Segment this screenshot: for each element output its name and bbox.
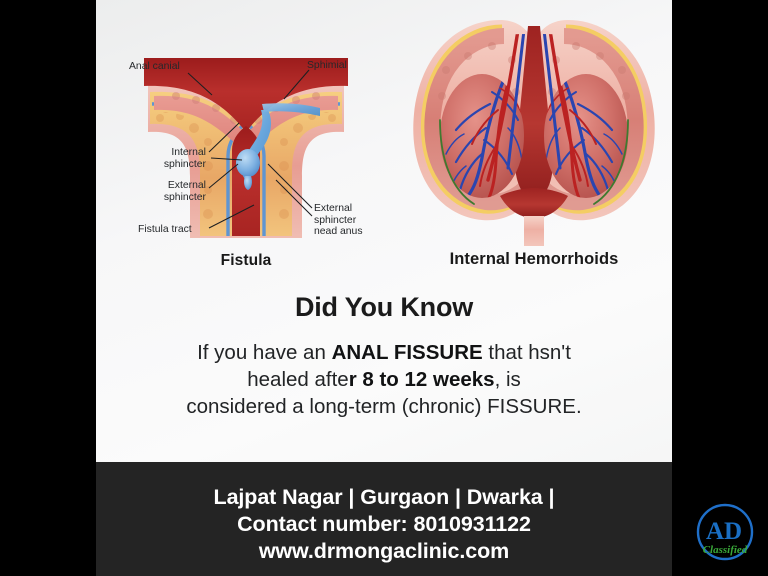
body-line1-emphasis: ANAL FISSURE: [332, 341, 483, 364]
figure-hemorrhoids: Internal Hemorrhoids: [396, 0, 672, 285]
body-copy-line-3: considered a long-term (chronic) FISSURE…: [96, 393, 672, 420]
body-copy-line-2: healed after 8 to 12 weeks, is: [96, 366, 672, 393]
poster-card: Anal canial Sphimial Internal sphincter …: [96, 0, 672, 576]
page-title: Did You Know: [96, 292, 672, 323]
hemorrhoids-illustration: [396, 0, 672, 248]
figure-caption-hemorrhoids: Internal Hemorrhoids: [396, 250, 672, 269]
letterbox-bar-right: [672, 0, 768, 576]
fistula-tract-bulb: [236, 149, 260, 177]
label-fistula-tract: Fistula tract: [138, 224, 192, 236]
body-copy: If you have an ANAL FISSURE that hsn't h…: [96, 339, 672, 420]
figure-fistula: Anal canial Sphimial Internal sphincter …: [96, 0, 396, 285]
footer-bar: Lajpat Nagar | Gurgaon | Dwarka | Contac…: [96, 462, 672, 576]
hemorrhoid-anus-stem: [524, 216, 544, 246]
body-copy-line-1: If you have an ANAL FISSURE that hsn't: [96, 339, 672, 366]
label-external-sphincter-near-anus: External sphincter nead anus: [314, 203, 363, 238]
label-internal-sphincter: Internal sphincter: [129, 147, 206, 170]
body-line2-part-a: healed afte: [247, 368, 348, 391]
ad-classified-watermark: AD Classified: [688, 494, 762, 568]
footer-locations: Lajpat Nagar | Gurgaon | Dwarka |: [96, 462, 672, 511]
label-anal-canal: Anal canial: [129, 61, 180, 73]
body-line1-part-a: If you have an: [197, 341, 331, 364]
body-line2-part-c: , is: [495, 368, 521, 391]
copy-block: Did You Know If you have an ANAL FISSURE…: [96, 292, 672, 420]
screenshot-stage: Anal canial Sphimial Internal sphincter …: [0, 0, 768, 576]
label-external-sphincter: External sphincter: [127, 180, 206, 203]
letterbox-bar-left: [0, 0, 96, 576]
body-line2-emphasis: r 8 to 12 weeks: [349, 368, 495, 391]
watermark-classified-text: Classified: [703, 544, 748, 556]
footer-website[interactable]: www.drmongaclinic.com: [96, 538, 672, 565]
figure-caption-fistula: Fistula: [96, 252, 396, 270]
footer-contact[interactable]: Contact number: 8010931122: [96, 511, 672, 538]
body-line1-part-c: that hsn't: [483, 341, 571, 364]
label-sphimial: Sphimial: [307, 60, 347, 72]
watermark-ad-text: AD: [706, 518, 742, 545]
diagram-row: Anal canial Sphimial Internal sphincter …: [96, 0, 672, 285]
